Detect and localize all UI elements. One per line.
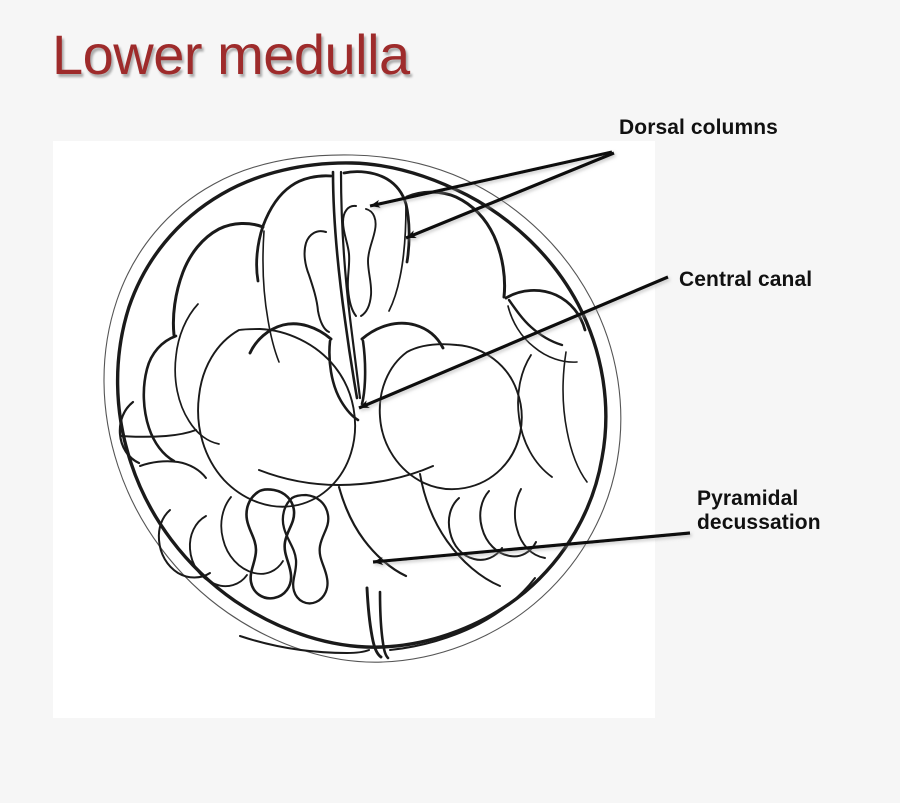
page-title: Lower medulla xyxy=(52,26,410,85)
slide-canvas: Lower medulla xyxy=(0,0,900,803)
figure-image-panel xyxy=(53,141,655,718)
label-central-canal: Central canal xyxy=(679,268,812,292)
label-pyramidal-decussation: Pyramidal decussation xyxy=(697,487,821,534)
label-dorsal-columns: Dorsal columns xyxy=(619,116,778,140)
